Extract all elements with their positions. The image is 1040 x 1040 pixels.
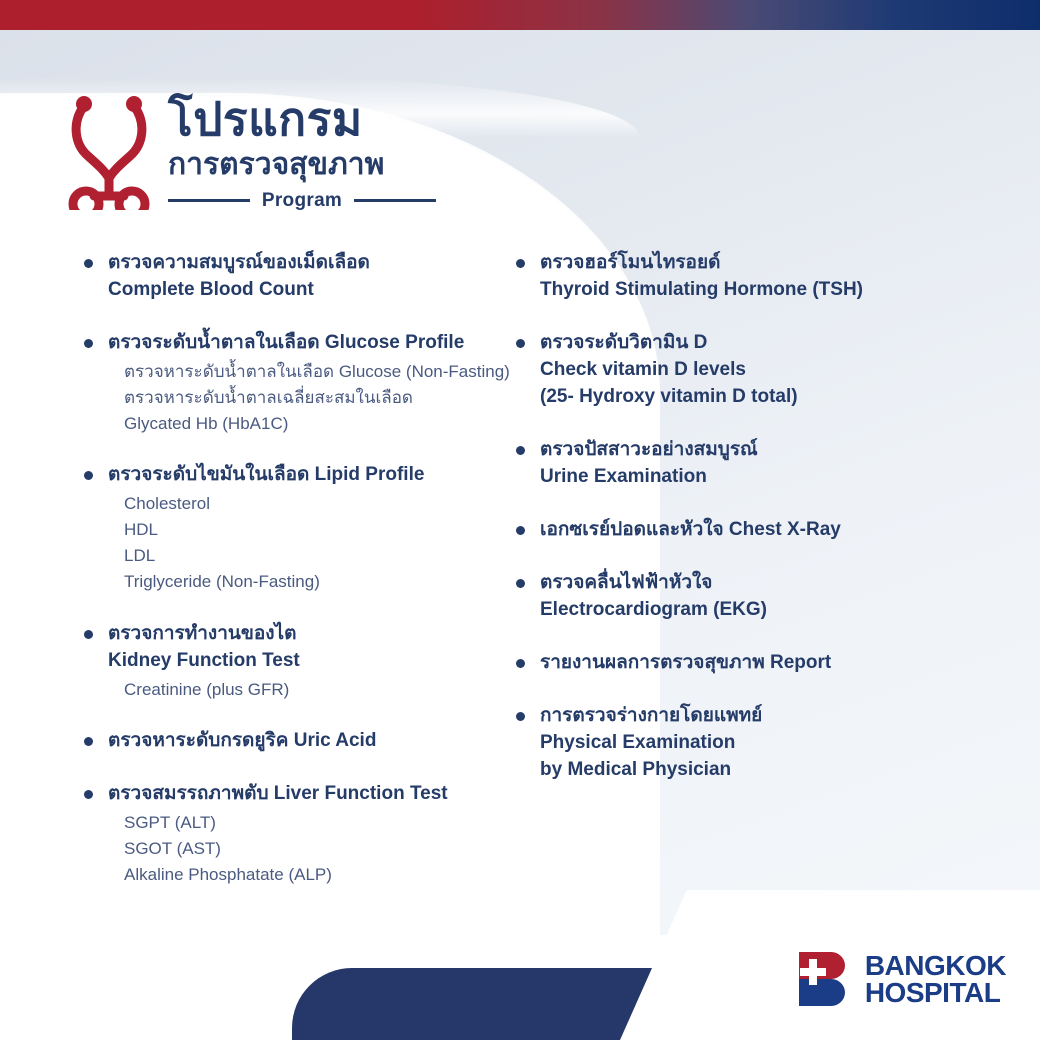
service-subitem: SGPT (ALT) [124,810,500,836]
logo-text-line2: HOSPITAL [865,979,1006,1006]
service-item-line: Complete Blood Count [108,277,500,304]
service-item-line: Thyroid Stimulating Hormone (TSH) [540,277,970,304]
service-item: ตรวจหาระดับกรดยูริค Uric Acid [84,728,500,755]
service-subitem: Triglyceride (Non-Fasting) [124,569,500,595]
service-item-line: ตรวจความสมบูรณ์ของเม็ดเลือด [108,250,500,277]
service-item-line: การตรวจร่างกายโดยแพทย์ [540,703,970,730]
service-subitem: Glycated Hb (HbA1C) [124,411,500,437]
service-subitem: ตรวจหาระดับน้ำตาลเฉลี่ยสะสมในเลือด [124,385,500,411]
infographic-page: โปรแกรม การตรวจสุขภาพ Program ตรวจความสม… [0,0,1040,1040]
page-subtitle: การตรวจสุขภาพ [168,146,436,184]
bullet-icon [516,579,525,588]
service-subitems: ตรวจหาระดับน้ำตาลในเลือด Glucose (Non-Fa… [108,359,500,436]
bullet-icon [84,790,93,799]
bullet-icon [84,737,93,746]
left-column: ตรวจความสมบูรณ์ของเม็ดเลือดComplete Bloo… [0,250,500,914]
service-subitem: SGOT (AST) [124,836,500,862]
bullet-icon [516,526,525,535]
bangkok-hospital-logo: BANGKOK HOSPITAL [797,950,1006,1008]
bangkok-hospital-b-cross-logo [797,950,853,1008]
service-item-line: ตรวจปัสสาวะอย่างสมบูรณ์ [540,437,970,464]
stethoscope-icon [68,92,154,210]
service-item: ตรวจระดับน้ำตาลในเลือด Glucose Profileตร… [84,330,500,436]
service-item-line: ตรวจคลื่นไฟฟ้าหัวใจ [540,570,970,597]
service-item: ตรวจการทำงานของไตKidney Function TestCre… [84,621,500,703]
service-item: ตรวจสมรรถภาพตับ Liver Function TestSGPT … [84,781,500,887]
service-item-line: เอกซเรย์ปอดและหัวใจ Chest X-Ray [540,517,970,544]
page-title: โปรแกรม [168,96,436,142]
service-item: รายงานผลการตรวจสุขภาพ Report [516,650,970,677]
service-subitem: LDL [124,543,500,569]
program-rule-right [354,199,436,202]
service-item-line: ตรวจระดับน้ำตาลในเลือด Glucose Profile [108,330,500,357]
service-item-line: Electrocardiogram (EKG) [540,597,970,624]
service-subitem: HDL [124,517,500,543]
service-columns: ตรวจความสมบูรณ์ของเม็ดเลือดComplete Bloo… [0,250,1040,914]
logo-text-line1: BANGKOK [865,952,1006,979]
service-item: ตรวจปัสสาวะอย่างสมบูรณ์Urine Examination [516,437,970,491]
header: โปรแกรม การตรวจสุขภาพ Program [68,92,436,212]
bullet-icon [516,446,525,455]
service-item: เอกซเรย์ปอดและหัวใจ Chest X-Ray [516,517,970,544]
service-item: ตรวจฮอร์โมนไทรอยด์Thyroid Stimulating Ho… [516,250,970,304]
service-subitem: Creatinine (plus GFR) [124,677,500,703]
service-item-line: Urine Examination [540,464,970,491]
service-item-line: (25- Hydroxy vitamin D total) [540,384,970,411]
program-label: Program [250,190,354,212]
service-item: การตรวจร่างกายโดยแพทย์Physical Examinati… [516,703,970,784]
service-item-line: ตรวจสมรรถภาพตับ Liver Function Test [108,781,500,808]
service-subitem: ตรวจหาระดับน้ำตาลในเลือด Glucose (Non-Fa… [124,359,500,385]
service-item-line: Kidney Function Test [108,648,500,675]
bullet-icon [84,471,93,480]
service-item-line: รายงานผลการตรวจสุขภาพ Report [540,650,970,677]
service-item-line: ตรวจการทำงานของไต [108,621,500,648]
service-subitems: CholesterolHDLLDLTriglyceride (Non-Fasti… [108,491,500,594]
bullet-icon [84,259,93,268]
service-item: ตรวจคลื่นไฟฟ้าหัวใจElectrocardiogram (EK… [516,570,970,624]
service-item-line: Physical Examination [540,730,970,757]
service-subitems: SGPT (ALT)SGOT (AST)Alkaline Phosphatate… [108,810,500,887]
bullet-icon [516,659,525,668]
service-item: ตรวจความสมบูรณ์ของเม็ดเลือดComplete Bloo… [84,250,500,304]
service-item: ตรวจระดับวิตามิน DCheck vitamin D levels… [516,330,970,411]
service-subitems: Creatinine (plus GFR) [108,677,500,703]
service-subitem: Alkaline Phosphatate (ALP) [124,862,500,888]
service-item: ตรวจระดับไขมันในเลือด Lipid ProfileChole… [84,462,500,594]
service-item-line: by Medical Physician [540,757,970,784]
service-subitem: Cholesterol [124,491,500,517]
program-divider-row: Program [168,190,436,212]
bullet-icon [516,259,525,268]
service-item-line: ตรวจหาระดับกรดยูริค Uric Acid [108,728,500,755]
bullet-icon [84,630,93,639]
program-rule-left [168,199,250,202]
bullet-icon [516,339,525,348]
right-column: ตรวจฮอร์โมนไทรอยด์Thyroid Stimulating Ho… [500,250,970,914]
service-item-line: ตรวจฮอร์โมนไทรอยด์ [540,250,970,277]
service-item-line: ตรวจระดับวิตามิน D [540,330,970,357]
bullet-icon [516,712,525,721]
top-gradient-banner [0,0,1040,30]
service-item-line: ตรวจระดับไขมันในเลือด Lipid Profile [108,462,500,489]
service-item-line: Check vitamin D levels [540,357,970,384]
bullet-icon [84,339,93,348]
